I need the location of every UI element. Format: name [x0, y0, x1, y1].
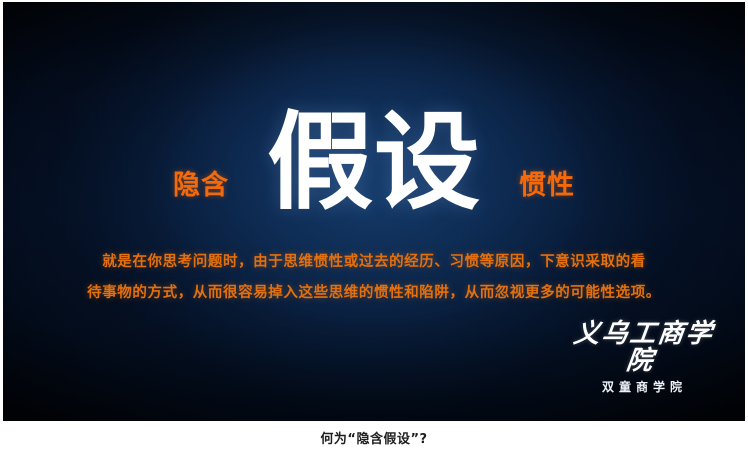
headline-left-word: 隐含: [173, 172, 229, 216]
institution-logo-name: 义乌工商学院: [564, 321, 721, 376]
slide-caption: 何为“隐含假设”?: [0, 428, 748, 447]
headline-main-word: 假设: [267, 110, 481, 216]
institution-logo-subname: 双童商学院: [567, 381, 717, 393]
body-paragraph-line-1: 就是在你思考问题时，由于思维惯性或过去的经历、习惯等原因，下意识采取的看: [65, 247, 683, 278]
body-paragraph: 就是在你思考问题时，由于思维惯性或过去的经历、习惯等原因，下意识采取的看 待事物…: [65, 247, 683, 309]
headline-right-word: 惯性: [519, 172, 575, 216]
headline-row: 隐含 假设 惯性: [3, 106, 745, 216]
slide-content: 隐含 假设 惯性 就是在你思考问题时，由于思维惯性或过去的经历、习惯等原因，下意…: [3, 2, 745, 421]
page-root: 隐含 假设 惯性 就是在你思考问题时，由于思维惯性或过去的经历、习惯等原因，下意…: [0, 0, 748, 464]
presentation-slide: 隐含 假设 惯性 就是在你思考问题时，由于思维惯性或过去的经历、习惯等原因，下意…: [3, 2, 745, 421]
institution-logo: 义乌工商学院 双童商学院: [567, 321, 717, 393]
body-paragraph-line-2: 待事物的方式，从而很容易掉入这些思维的惯性和陷阱，从而忽视更多的可能性选项。: [65, 278, 683, 309]
